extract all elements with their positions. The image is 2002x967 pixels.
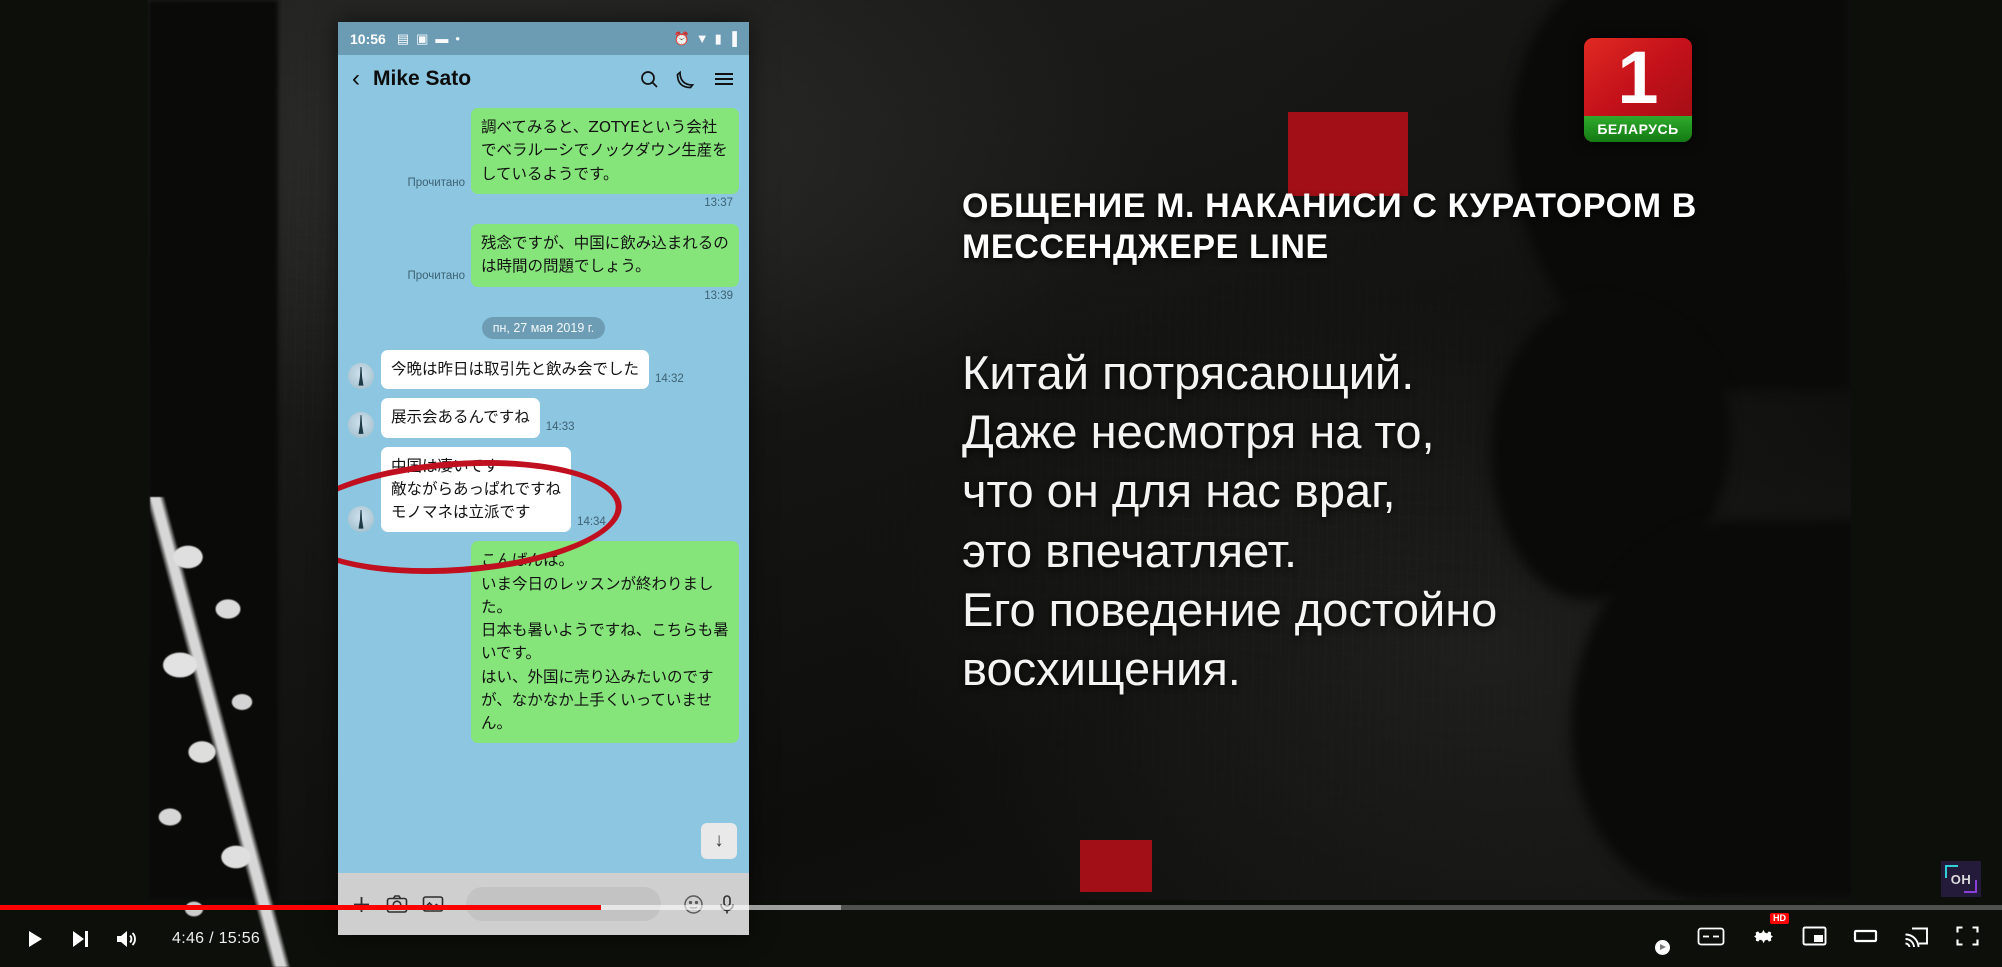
chat-bubble-outgoing[interactable]: 調べてみると、ZOTYEという会社でベラルーシでノックダウン生産をしているようで… — [471, 108, 739, 194]
chat-contact-name: Mike Sato — [373, 67, 471, 91]
photos-icon: ▣ — [416, 31, 428, 47]
chat-row-incoming: 今晩は昨日は取引先と飲み会でした 14:32 — [348, 350, 739, 389]
phone-screenshot: 10:56 ▤ ▣ ▬ • ⏰ ▼ ▮ ▐ ‹ Mike Sato — [338, 22, 749, 935]
message-status: Прочитано — [408, 176, 466, 190]
red-accent-square-bottom — [1080, 840, 1152, 892]
next-icon[interactable] — [68, 927, 92, 951]
message-time: 14:32 — [655, 372, 684, 386]
red-accent-square-top — [1288, 112, 1408, 196]
chat-bubble-incoming[interactable]: 中国は凄いです 敵ながらあっぱれですね モノマネは立派です — [381, 447, 571, 533]
chat-row-outgoing: Прочитано 残念ですが、中国に飲み込まれるのは時間の問題でしょう。 — [348, 224, 739, 287]
call-icon[interactable] — [676, 69, 696, 89]
battery-icon: ▐ — [728, 31, 737, 46]
signal-icon: ▮ — [715, 31, 722, 47]
statusbar-time: 10:56 — [350, 31, 386, 47]
miniplayer-icon[interactable] — [1802, 925, 1827, 952]
youtube-player-page: ОБЩЕНИЕ М. НАКАНИСИ С КУРАТОРОМ В МЕССЕН… — [0, 0, 2002, 967]
chat-header-actions — [639, 69, 735, 89]
chat-header: ‹ Mike Sato — [338, 55, 749, 102]
belarus1-channel-logo: 1 БЕЛАРУСЬ — [1584, 38, 1692, 142]
quote-text: Китай потрясающий. Даже несмотря на то, … — [962, 343, 1802, 698]
player-controls: 4:46 / 15:56 HD — [0, 910, 2002, 967]
chat-row-outgoing: こんばんは。 いま今日のレッスンが終わりました。 日本も暑いようですね、こちらも… — [348, 541, 739, 743]
chevron-left-icon[interactable]: ‹ — [352, 67, 360, 91]
wifi-icon: ▼ — [696, 31, 709, 46]
chat-message-list[interactable]: Прочитано 13:37 調べてみると、ZOTYEという会社でベラルーシで… — [338, 102, 749, 873]
channel-watermark: ОН — [1941, 861, 1981, 897]
channel-number: 1 — [1584, 42, 1692, 114]
fullscreen-icon[interactable] — [1955, 925, 1980, 952]
channel-name: БЕЛАРУСЬ — [1584, 116, 1692, 142]
avatar — [348, 363, 374, 389]
chat-bubble-incoming[interactable]: 今晩は昨日は取引先と飲み会でした — [381, 350, 649, 389]
avatar — [348, 506, 374, 532]
message-time: 14:33 — [546, 420, 575, 434]
chat-row-incoming: 展示会あるんですね 14:33 — [348, 398, 739, 437]
headline-text: ОБЩЕНИЕ М. НАКАНИСИ С КУРАТОРОМ В МЕССЕН… — [962, 186, 1802, 269]
quality-badge: HD — [1770, 913, 1789, 925]
arrow-down-icon[interactable]: ↓ — [701, 823, 737, 859]
message-time: 13:39 — [704, 289, 733, 303]
phone-statusbar: 10:56 ▤ ▣ ▬ • ⏰ ▼ ▮ ▐ — [338, 22, 749, 55]
menu-icon[interactable] — [713, 70, 735, 88]
chat-timestamp-row: 13:39 — [348, 289, 739, 306]
avatar — [348, 412, 374, 438]
date-separator: пн, 27 мая 2019 г. — [482, 317, 606, 339]
message-status: Прочитано — [408, 269, 466, 283]
settings-gear-icon[interactable]: HD — [1751, 924, 1776, 954]
chat-row-outgoing: Прочитано 13:37 調べてみると、ZOTYEという会社でベラルーシで… — [348, 108, 739, 194]
alarm-icon: ⏰ — [674, 31, 690, 47]
theater-icon[interactable] — [1853, 925, 1878, 952]
search-icon[interactable] — [639, 69, 659, 89]
statusbar-right-icons: ⏰ ▼ ▮ ▐ — [674, 31, 737, 47]
time-display: 4:46 / 15:56 — [172, 930, 260, 948]
message-time: 14:34 — [577, 515, 606, 529]
battery-saver-icon: ▤ — [397, 31, 409, 47]
play-icon[interactable] — [22, 927, 46, 951]
dot-icon: • — [455, 31, 460, 46]
message-time: 13:37 — [704, 196, 733, 210]
chat-row-incoming-highlighted: 中国は凄いです 敵ながらあっぱれですね モノマネは立派です 14:34 — [348, 447, 739, 533]
chat-timestamp-row: 13:37 — [348, 196, 739, 213]
volume-icon[interactable] — [114, 927, 140, 951]
chat-bubble-outgoing[interactable]: 残念ですが、中国に飲み込まれるのは時間の問題でしょう。 — [471, 224, 739, 287]
subtitles-icon[interactable] — [1697, 926, 1725, 952]
folder-icon: ▬ — [435, 31, 448, 46]
blossom-branch-graphic — [150, 497, 300, 967]
caption-block: ОБЩЕНИЕ М. НАКАНИСИ С КУРАТОРОМ В МЕССЕН… — [962, 186, 1802, 698]
chat-bubble-outgoing[interactable]: こんばんは。 いま今日のレッスンが終わりました。 日本も暑いようですね、こちらも… — [471, 541, 739, 743]
chat-bubble-incoming[interactable]: 展示会あるんですね — [381, 398, 540, 437]
cast-icon[interactable] — [1904, 925, 1929, 952]
